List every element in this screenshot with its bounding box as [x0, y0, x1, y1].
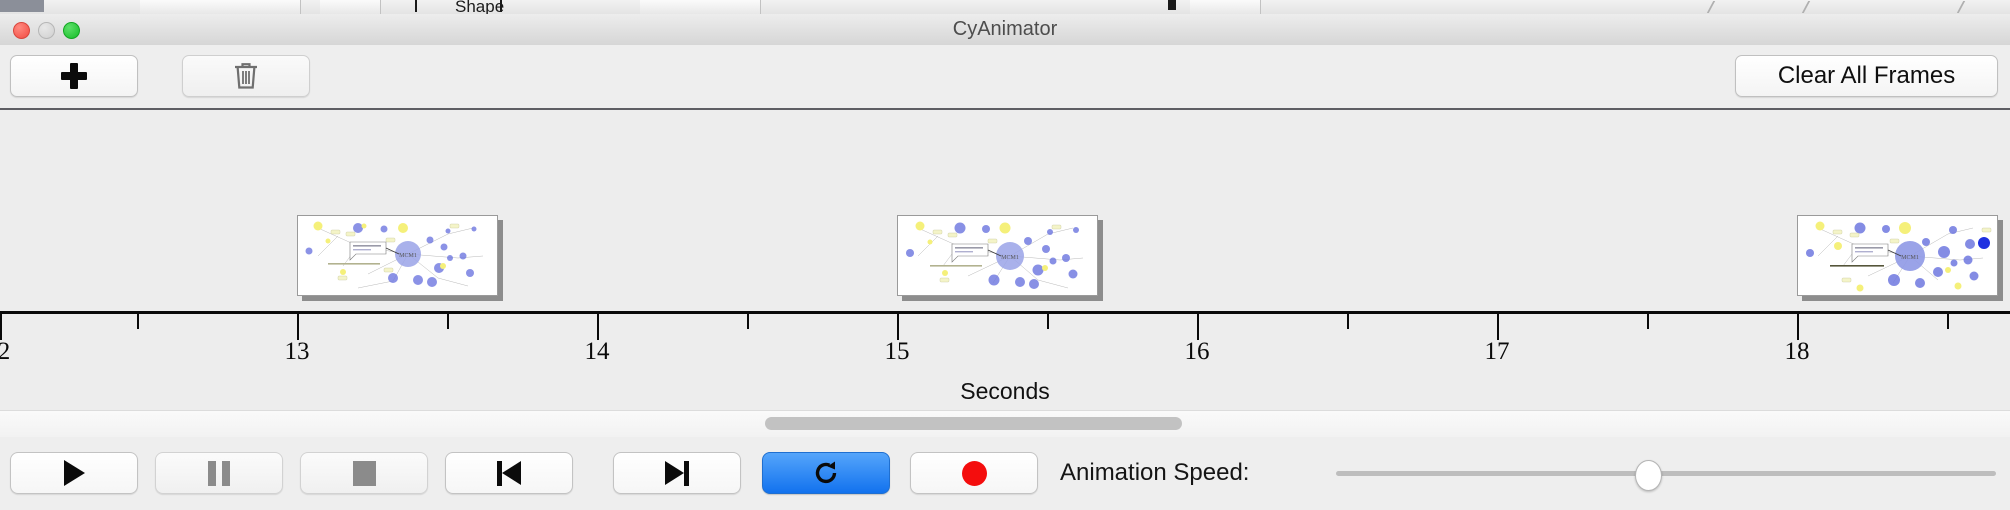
timeline-canvas[interactable]: MCM1: [0, 110, 2010, 410]
animation-speed-slider[interactable]: [1336, 452, 1996, 494]
axis-tick-minor: [1347, 314, 1349, 329]
scrollbar-thumb[interactable]: [765, 417, 1182, 430]
axis-tick: [1797, 314, 1799, 340]
background-window-slant: [1802, 1, 1824, 13]
axis-tick: [597, 314, 599, 340]
svg-text:MCM1: MCM1: [1901, 255, 1919, 261]
background-window-mark: [1168, 0, 1176, 10]
frame-thumbnail[interactable]: MCM1: [1797, 215, 2003, 301]
clear-all-frames-button[interactable]: Clear All Frames: [1735, 55, 1998, 97]
slider-thumb[interactable]: [1635, 460, 1662, 491]
frame-thumbnail[interactable]: MCM1: [297, 215, 503, 301]
background-window-label: Shape: [455, 0, 504, 15]
play-button[interactable]: [10, 452, 138, 494]
frame-image: MCM1: [1797, 215, 1998, 296]
background-window-segment: [320, 0, 381, 14]
axis-tick: [0, 314, 2, 340]
animation-speed-label: Animation Speed:: [1060, 452, 1249, 494]
background-window-mark: [415, 0, 417, 12]
slider-track[interactable]: [1336, 471, 1996, 476]
pause-button[interactable]: [155, 452, 283, 494]
axis-tick-minor: [1947, 314, 1949, 329]
axis-tick-minor: [137, 314, 139, 329]
record-button[interactable]: [910, 452, 1038, 494]
background-window-strip: Shape: [0, 0, 2010, 15]
delete-frame-button[interactable]: [182, 55, 310, 97]
svg-text:MCM1: MCM1: [1001, 255, 1019, 261]
background-window-segment: [1190, 0, 1261, 14]
cyanimator-window: Shape CyAnimator Clear All Frame: [0, 0, 2010, 510]
horizontal-scrollbar[interactable]: [0, 410, 2010, 438]
transport-bar: Animation Speed:: [0, 437, 2010, 510]
background-window-slant: [1707, 1, 1729, 13]
clear-all-frames-label: Clear All Frames: [1778, 62, 1955, 90]
loop-button[interactable]: [762, 452, 890, 494]
background-window-segment: [140, 0, 301, 14]
axis-tick-label: 18: [1785, 338, 1810, 366]
axis-tick-label: 13: [285, 338, 310, 366]
play-icon: [64, 460, 85, 486]
loop-icon: [811, 458, 841, 488]
stop-button[interactable]: [300, 452, 428, 494]
window-title: CyAnimator: [0, 14, 2010, 45]
plus-icon: [61, 63, 87, 89]
svg-text:MCM1: MCM1: [399, 253, 417, 259]
trash-icon: [233, 61, 259, 91]
title-bar: CyAnimator: [0, 14, 2010, 46]
skip-forward-button[interactable]: [613, 452, 741, 494]
axis-tick-label: 17: [1485, 338, 1510, 366]
axis-tick-minor: [1647, 314, 1649, 329]
axis-tick-minor: [747, 314, 749, 329]
frame-image: MCM1: [297, 215, 498, 296]
frame-image: MCM1: [897, 215, 1098, 296]
axis-tick-minor: [447, 314, 449, 329]
axis-title: Seconds: [0, 378, 2010, 405]
axis-tick-label: 14: [585, 338, 610, 366]
skip-back-button[interactable]: [445, 452, 573, 494]
add-frame-button[interactable]: [10, 55, 138, 97]
timeline-axis: [0, 311, 2010, 314]
frame-thumbnail[interactable]: MCM1: [897, 215, 1103, 301]
toolbar: Clear All Frames: [0, 45, 2010, 110]
axis-tick: [297, 314, 299, 340]
axis-tick-minor: [1047, 314, 1049, 329]
stop-icon: [353, 461, 376, 486]
record-icon: [962, 461, 987, 486]
axis-tick: [1497, 314, 1499, 340]
axis-tick: [1197, 314, 1199, 340]
background-window-selected-tab: [0, 0, 44, 12]
axis-tick-label: 16: [1185, 338, 1210, 366]
axis-tick-label: 15: [885, 338, 910, 366]
pause-icon: [208, 461, 230, 486]
axis-tick-label: 2: [0, 338, 10, 366]
axis-tick: [897, 314, 899, 340]
skip-forward-icon: [664, 461, 690, 486]
background-window-slant: [1957, 1, 1979, 13]
background-window-segment: [640, 0, 761, 14]
skip-back-icon: [496, 461, 522, 486]
